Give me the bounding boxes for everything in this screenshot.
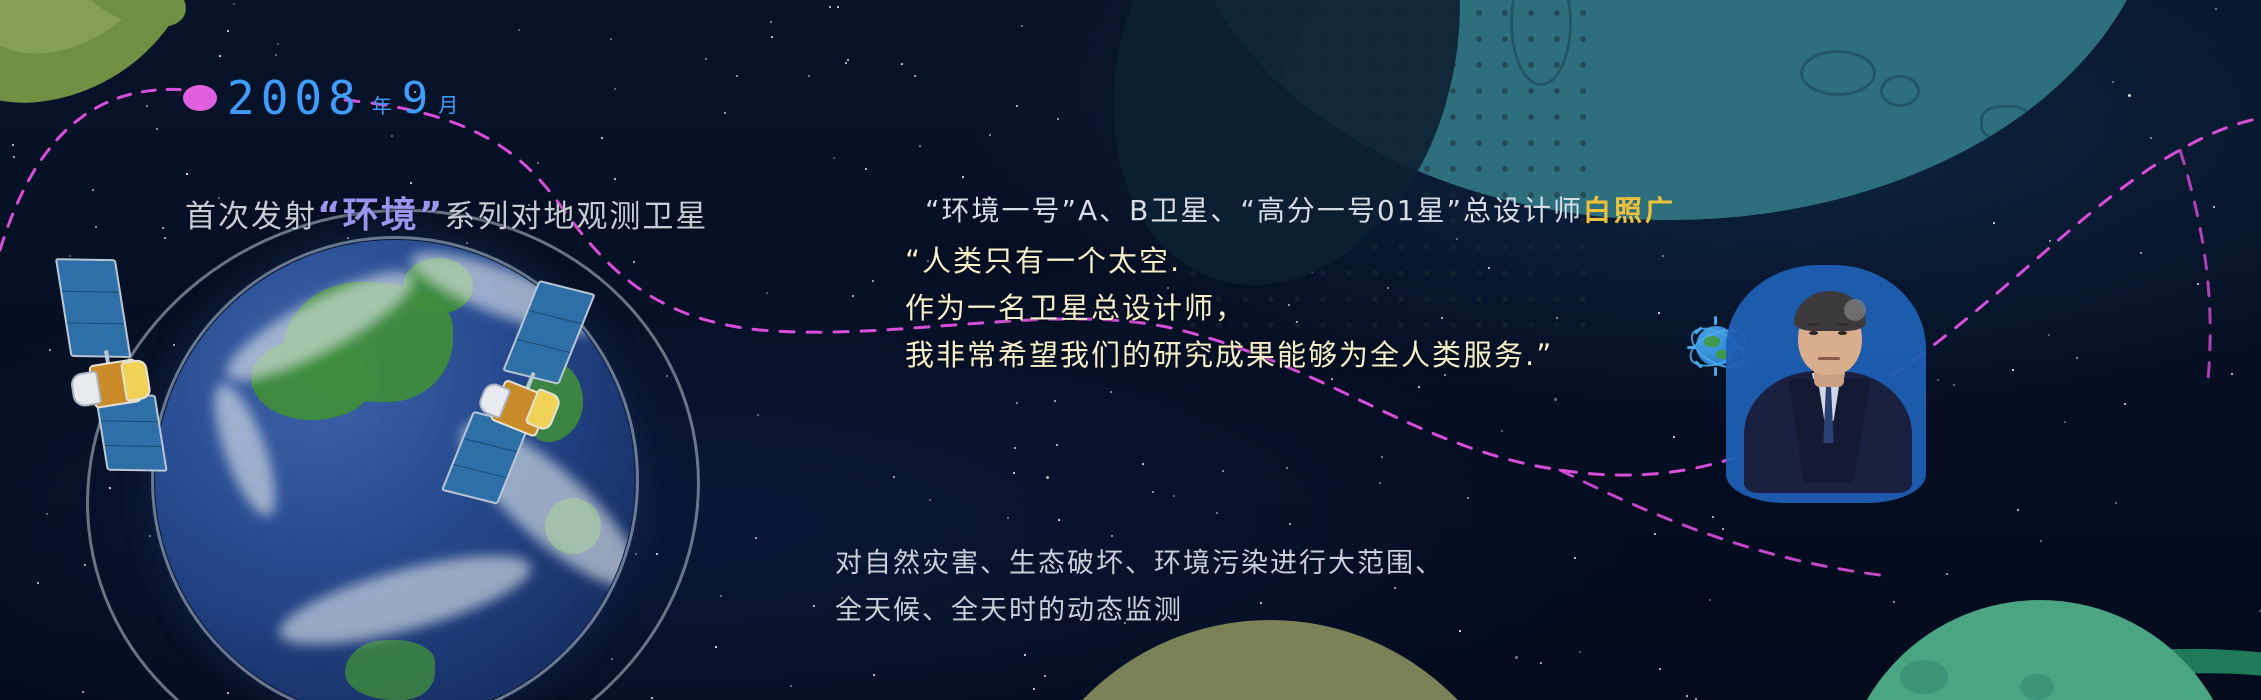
- star: [518, 29, 520, 31]
- star: [919, 145, 921, 147]
- star: [614, 178, 616, 180]
- planet-green-crater: [2020, 674, 2054, 700]
- star: [705, 58, 707, 60]
- star: [1054, 400, 1056, 402]
- star: [2012, 369, 2014, 371]
- star: [914, 75, 916, 77]
- star: [1381, 456, 1383, 458]
- star: [2048, 334, 2050, 336]
- star: [2215, 8, 2217, 10]
- satellite-body-gold: [120, 358, 152, 402]
- designer-quote: “人类只有一个太空. 作为一名卫星总设计师， 我非常希望我们的研究成果能够为全人…: [905, 238, 1553, 379]
- star: [1993, 222, 1995, 224]
- quote-line: 我非常希望我们的研究成果能够为全人类服务.”: [905, 332, 1553, 379]
- star: [13, 156, 15, 158]
- star: [1662, 255, 1664, 257]
- star: [164, 237, 166, 239]
- designer-portrait: [1740, 275, 1915, 490]
- subtitle-open-quote: “: [317, 195, 343, 236]
- star: [1286, 467, 1288, 469]
- star: [872, 280, 874, 282]
- star: [1722, 528, 1724, 530]
- solar-panel-icon: [502, 280, 596, 385]
- star: [37, 582, 39, 584]
- star: [1467, 497, 1469, 499]
- quote-line: “人类只有一个太空.: [905, 238, 1553, 285]
- globe-spike: [1687, 346, 1696, 349]
- star: [2049, 240, 2051, 242]
- star: [651, 697, 653, 699]
- subtitle-close-quote: ”: [419, 195, 445, 236]
- star: [1013, 472, 1015, 474]
- portrait-hair-gray: [1844, 299, 1866, 321]
- star: [893, 476, 895, 478]
- satellite-dish: [69, 370, 102, 408]
- star: [1110, 391, 1112, 393]
- description-line: 全天候、全天时的动态监测: [835, 587, 1444, 634]
- star: [1142, 463, 1144, 465]
- star: [1712, 516, 1714, 518]
- portrait-mouth: [1818, 357, 1840, 360]
- mission-description: 对自然灾害、生态破坏、环境污染进行大范围、 全天候、全天时的动态监测: [835, 540, 1444, 634]
- star: [2124, 403, 2126, 405]
- star: [808, 75, 810, 77]
- star: [852, 295, 854, 297]
- designer-headline: “环境一号”A、B卫星、“高分一号01星”总设计师白照广: [925, 189, 1676, 229]
- star: [1021, 25, 1023, 27]
- star: [1953, 384, 1955, 386]
- star: [1016, 402, 1018, 404]
- star: [2040, 540, 2042, 542]
- globe-spike: [1714, 367, 1717, 376]
- star: [771, 36, 773, 38]
- star: [1222, 470, 1224, 472]
- star: [537, 162, 539, 164]
- planet-green-crater: [1900, 660, 1948, 694]
- star: [186, 173, 188, 175]
- star: [2197, 283, 2199, 285]
- star: [1659, 668, 1661, 670]
- star: [755, 537, 757, 539]
- star: [724, 112, 726, 114]
- star: [1654, 533, 1656, 535]
- subtitle-suffix: 系列对地观测卫星: [444, 199, 708, 235]
- planet-teal-crater: [1980, 105, 2032, 141]
- star: [1418, 386, 1420, 388]
- star: [1058, 519, 1060, 521]
- portrait-eye-left: [1809, 331, 1818, 335]
- star: [2115, 502, 2117, 504]
- star: [847, 59, 849, 61]
- star: [865, 168, 867, 170]
- star: [391, 135, 393, 137]
- star: [1173, 495, 1175, 497]
- star: [1216, 512, 1218, 514]
- star: [275, 54, 277, 56]
- infographic-canvas: 2008 年 9 月 首次发射“环境”系列对地观测卫星 “环境一号”A、B卫星、…: [0, 0, 2261, 700]
- star: [837, 6, 839, 8]
- star: [1686, 695, 1688, 697]
- star: [1007, 517, 1009, 519]
- star: [901, 63, 903, 65]
- star: [757, 414, 759, 416]
- star: [1024, 654, 1026, 656]
- star: [715, 646, 717, 648]
- solar-panel-icon: [55, 258, 132, 358]
- star: [1574, 557, 1576, 559]
- star: [929, 499, 931, 501]
- star: [1459, 630, 1461, 632]
- star: [219, 55, 221, 57]
- star: [813, 605, 815, 607]
- star: [1152, 491, 1154, 493]
- description-line: 对自然灾害、生态破坏、环境污染进行大范围、: [835, 540, 1444, 587]
- timeline-month-unit: 月: [438, 95, 458, 121]
- star: [92, 189, 94, 191]
- star: [1540, 662, 1542, 664]
- portrait-eye-right: [1838, 331, 1847, 335]
- star: [989, 134, 991, 136]
- star: [1289, 523, 1291, 525]
- star: [49, 349, 51, 351]
- timeline-year: 2008: [227, 75, 362, 121]
- star: [1946, 573, 1948, 575]
- star: [1709, 599, 1711, 601]
- star: [873, 674, 875, 676]
- star: [614, 88, 616, 90]
- star: [1695, 698, 1697, 700]
- star: [227, 30, 229, 32]
- star: [845, 62, 847, 64]
- timeline-subtitle: 首次发射“环境”系列对地观测卫星: [185, 186, 708, 238]
- star: [766, 292, 768, 294]
- planet-green-ringed: [1720, 600, 2261, 700]
- subtitle-prefix: 首次发射: [185, 199, 317, 235]
- star: [1016, 105, 1018, 107]
- star: [1579, 651, 1581, 653]
- portrait-brow-left: [1807, 323, 1820, 326]
- star: [1033, 688, 1035, 690]
- star: [1658, 312, 1660, 314]
- star: [2076, 357, 2078, 359]
- star: [1501, 430, 1503, 432]
- star: [146, 105, 148, 107]
- portrait-brow-right: [1836, 323, 1849, 326]
- star: [1673, 436, 1675, 438]
- star: [610, 38, 612, 40]
- timeline-year-unit: 年: [372, 96, 392, 121]
- star: [2064, 421, 2066, 423]
- timeline-date: 2008 年 9 月: [183, 75, 458, 121]
- star: [410, 182, 412, 184]
- subtitle-highlight: 环境: [343, 195, 419, 236]
- star: [962, 176, 964, 178]
- star: [790, 685, 792, 687]
- headline-text: “环境一号”A、B卫星、“高分一号01星”总设计师: [925, 194, 1583, 227]
- star: [833, 157, 835, 159]
- magenta-dot-icon: [183, 85, 217, 111]
- timeline-month: 9: [402, 77, 429, 121]
- star: [1379, 482, 1381, 484]
- star: [156, 128, 158, 130]
- globe-spike: [1714, 316, 1717, 325]
- star: [1056, 444, 1058, 446]
- star: [601, 137, 603, 139]
- star: [162, 227, 164, 229]
- quote-line: 作为一名卫星总设计师，: [905, 285, 1553, 332]
- star: [770, 21, 772, 23]
- designer-name: 白照广: [1583, 194, 1676, 227]
- planet-teal-crater: [1800, 50, 1876, 96]
- planet-teal-crater: [1880, 75, 1920, 107]
- star: [1111, 535, 1113, 537]
- star: [720, 595, 722, 597]
- star: [84, 564, 86, 566]
